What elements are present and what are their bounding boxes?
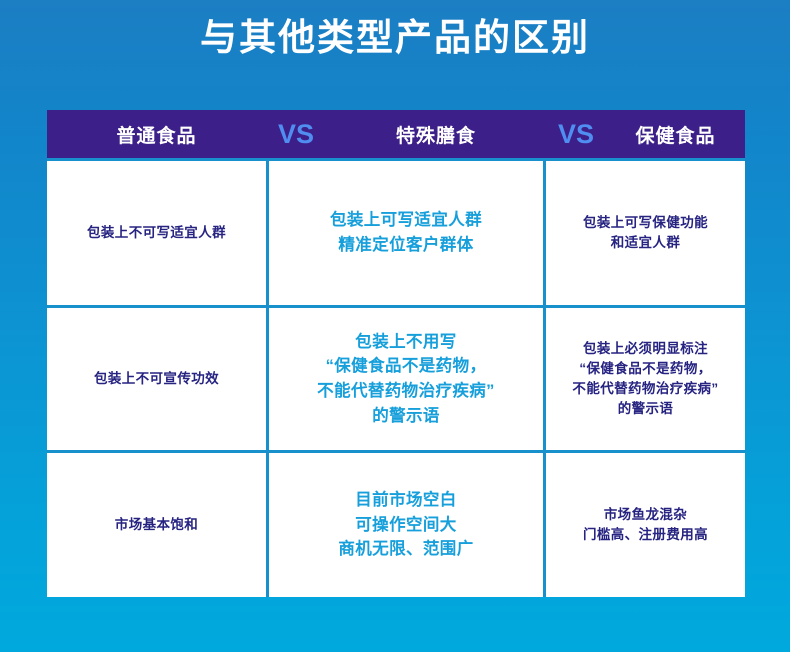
vs-separator-1: VS [266,110,326,158]
cell-text: 包装上不可宣传功效 [94,369,219,389]
cell-text: 包装上可写适宜人群精准定位客户群体 [330,208,482,258]
comparison-table: 普通食品 VS 特殊膳食 VS 保健食品 包装上不可写适宜人群 包装上可写适宜人… [47,110,745,597]
cell-ordinary-food-row2: 包装上不可宣传功效 [47,308,266,450]
cell-text: 包装上必须明显标注“保健食品不是药物，不能代替药物治疗疾病”的警示语 [572,339,718,420]
cell-health-food-row3: 市场鱼龙混杂门槛高、注册费用高 [546,453,745,597]
cell-text: 包装上不用写“保健食品不是药物，不能代替药物治疗疾病”的警示语 [317,330,495,429]
table-body: 包装上不可写适宜人群 包装上可写适宜人群精准定位客户群体 包装上可写保健功能和适… [47,158,745,597]
cell-text: 市场鱼龙混杂门槛高、注册费用高 [583,505,708,546]
header-cell-special-diet: 特殊膳食 [326,110,546,158]
cell-health-food-row2: 包装上必须明显标注“保健食品不是药物，不能代替药物治疗疾病”的警示语 [546,308,745,450]
cell-text: 市场基本饱和 [115,515,198,535]
table-row: 市场基本饱和 目前市场空白可操作空间大商机无限、范围广 市场鱼龙混杂门槛高、注册… [47,450,745,597]
cell-ordinary-food-row1: 包装上不可写适宜人群 [47,161,266,305]
table-row: 包装上不可写适宜人群 包装上可写适宜人群精准定位客户群体 包装上可写保健功能和适… [47,158,745,305]
cell-special-diet-row1: 包装上可写适宜人群精准定位客户群体 [266,161,546,305]
cell-text: 目前市场空白可操作空间大商机无限、范围广 [338,488,473,562]
vs-separator-2: VS [546,110,606,158]
header-cell-health-food: 保健食品 [606,110,745,158]
cell-ordinary-food-row3: 市场基本饱和 [47,453,266,597]
cell-text: 包装上不可写适宜人群 [87,223,226,243]
table-row: 包装上不可宣传功效 包装上不用写“保健食品不是药物，不能代替药物治疗疾病”的警示… [47,305,745,450]
cell-health-food-row1: 包装上可写保健功能和适宜人群 [546,161,745,305]
cell-text: 包装上可写保健功能和适宜人群 [583,213,708,254]
header-cell-ordinary-food: 普通食品 [47,110,266,158]
cell-special-diet-row3: 目前市场空白可操作空间大商机无限、范围广 [266,453,546,597]
table-header-row: 普通食品 VS 特殊膳食 VS 保健食品 [47,110,745,158]
cell-special-diet-row2: 包装上不用写“保健食品不是药物，不能代替药物治疗疾病”的警示语 [266,308,546,450]
page-title: 与其他类型产品的区别 [0,12,790,64]
